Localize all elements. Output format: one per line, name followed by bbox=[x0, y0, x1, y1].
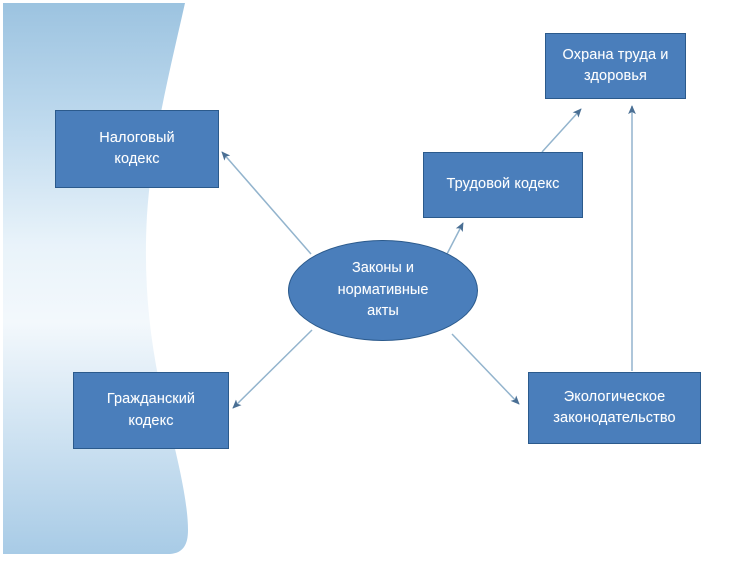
connector-hub-to-civil bbox=[233, 330, 312, 408]
node-occupational-health-and-safety[interactable]: Охрана труда и здоровья bbox=[545, 33, 686, 99]
diagram-canvas: Законы и нормативные акты Налоговый коде… bbox=[0, 0, 750, 563]
node-hub-laws-and-regulations[interactable]: Законы и нормативные акты bbox=[288, 240, 478, 341]
connector-hub-to-tax bbox=[222, 152, 311, 254]
node-civil-code[interactable]: Гражданский кодекс bbox=[73, 372, 229, 449]
connector-labor-to-safety bbox=[542, 109, 581, 152]
node-hub-label: Законы и нормативные акты bbox=[338, 258, 429, 323]
connector-hub-to-labor bbox=[447, 223, 463, 254]
node-labor-code-label: Трудовой кодекс bbox=[446, 174, 559, 195]
node-occupational-health-and-safety-label: Охрана труда и здоровья bbox=[563, 45, 669, 87]
decorative-wave-shape bbox=[3, 3, 188, 554]
node-tax-code[interactable]: Налоговый кодекс bbox=[55, 110, 219, 188]
node-environmental-legislation-label: Экологическое законодательство bbox=[553, 387, 675, 429]
node-tax-code-label: Налоговый кодекс bbox=[99, 128, 174, 170]
node-labor-code[interactable]: Трудовой кодекс bbox=[423, 152, 583, 218]
node-environmental-legislation[interactable]: Экологическое законодательство bbox=[528, 372, 701, 444]
decorative-gradient-wave bbox=[0, 0, 230, 563]
node-civil-code-label: Гражданский кодекс bbox=[107, 389, 195, 431]
connector-hub-to-ecology bbox=[452, 334, 519, 404]
